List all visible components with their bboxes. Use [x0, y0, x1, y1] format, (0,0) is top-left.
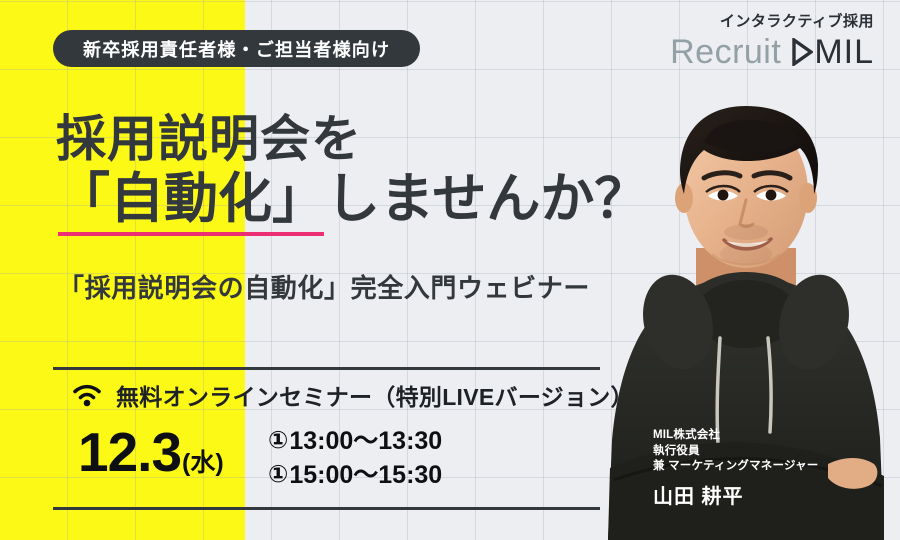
session-time: 13:00〜13:30 [289, 424, 442, 458]
seminar-type-row: 無料オンラインセミナー（特別LIVEバージョン） [72, 378, 634, 412]
logo-wordmark: Recruit MIL [670, 35, 874, 69]
seminar-type-label: 無料オンラインセミナー（特別LIVEバージョン） [116, 378, 634, 412]
speaker-title-2: 兼 マーケティングマネージャー [653, 459, 818, 475]
logo-mil-text: MIL [792, 35, 874, 69]
logo-kicker: インタラクティブ採用 [670, 14, 874, 29]
speaker-credit: MIL株式会社 執行役員 兼 マーケティングマネージャー 山田 耕平 [653, 428, 818, 509]
headline: 採用説明会を 「自動化」しませんか？ [56, 110, 648, 231]
session-marker: ① [268, 459, 288, 492]
headline-line-2-rest: しませんか？ [326, 169, 648, 229]
divider-top [53, 367, 600, 370]
subheading: 「採用説明会の自動化」完全入門ウェビナー [58, 268, 590, 305]
audience-badge: 新卒採用責任者様・ご担当者様向け [53, 30, 420, 67]
event-date: 12.3 (水) [78, 425, 224, 480]
wifi-icon [72, 383, 102, 407]
divider-bottom [53, 507, 600, 510]
session-row: ① 13:00〜13:30 [268, 424, 442, 458]
session-row: ① 15:00〜15:30 [268, 458, 442, 492]
headline-line-1: 採用説明会を [56, 110, 648, 168]
session-marker: ① [268, 425, 288, 458]
headline-line-2: 「自動化」しませんか？ [56, 168, 648, 231]
session-time: 15:00〜15:30 [289, 458, 442, 492]
mil-m-mark-icon [792, 38, 813, 66]
speaker-title: 執行役員 [653, 444, 818, 460]
logo-mil-letters: MIL [814, 35, 874, 69]
webinar-promo-banner: インタラクティブ採用 Recruit MIL 新卒採用責任者様・ご担当者様向け … [0, 0, 900, 540]
speaker-company: MIL株式会社 [653, 428, 818, 444]
speaker-name: 山田 耕平 [653, 480, 818, 509]
headline-emphasis: 「自動化」 [56, 168, 326, 231]
event-date-value: 12.3 [78, 425, 181, 480]
session-times: ① 13:00〜13:30 ① 15:00〜15:30 [268, 424, 442, 492]
logo-recruit-text: Recruit [670, 35, 781, 69]
brand-logo: インタラクティブ採用 Recruit MIL [670, 14, 874, 69]
event-date-dow: (水) [182, 443, 224, 479]
